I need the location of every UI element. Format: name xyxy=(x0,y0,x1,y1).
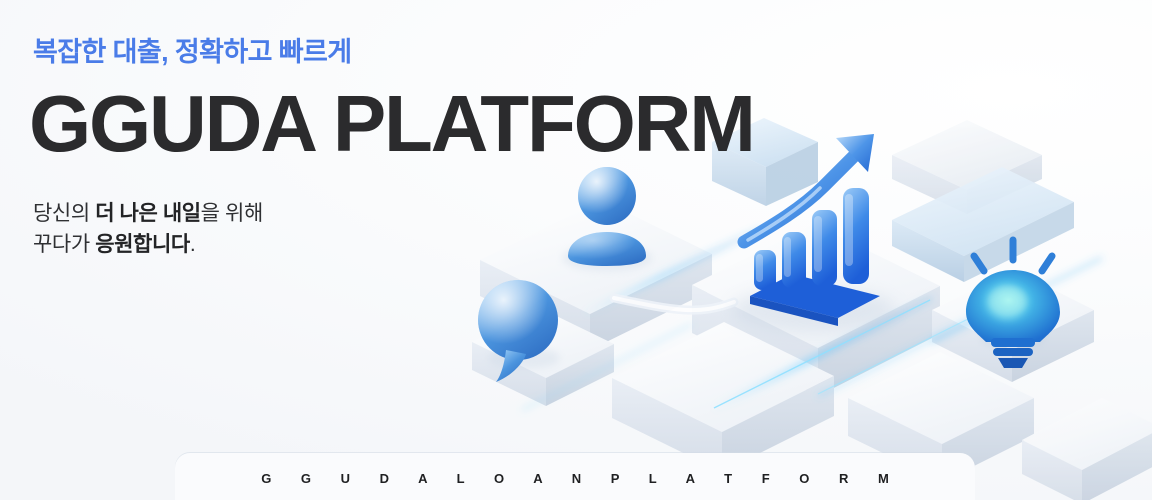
subtitle-emphasis: 응원합니다 xyxy=(95,233,190,256)
hero-copy: 복잡한 대출, 정확하고 빠르게 GGUDA PLATFORM 당신의 더 나은… xyxy=(33,36,593,261)
chart-bar xyxy=(782,232,806,288)
chart-bar xyxy=(754,250,776,290)
bottom-brand-card: G G U D A L O A N P L A T F O R M xyxy=(175,453,975,500)
chart-bar xyxy=(812,210,837,286)
subtitle-text: 꾸다가 xyxy=(33,233,95,256)
hero-banner: 복잡한 대출, 정확하고 빠르게 GGUDA PLATFORM 당신의 더 나은… xyxy=(0,0,1152,500)
page-title: GGUDA PLATFORM xyxy=(29,86,593,162)
subtitle-line-2: 꾸다가 응원합니다. xyxy=(33,233,195,256)
hero-eyebrow: 복잡한 대출, 정확하고 빠르게 xyxy=(33,36,593,68)
bottom-brand-label: G G U D A L O A N P L A T F O R M xyxy=(248,471,902,486)
hero-subtitle: 당신의 더 나은 내일을 위해 꾸다가 응원합니다. xyxy=(33,198,593,260)
subtitle-text: . xyxy=(190,233,195,256)
isometric-tile-bottom-right xyxy=(1022,398,1152,500)
subtitle-text: 을 위해 xyxy=(201,202,263,225)
chart-bar xyxy=(843,188,869,284)
subtitle-line-1: 당신의 더 나은 내일을 위해 xyxy=(33,202,263,225)
subtitle-text: 당신의 xyxy=(33,202,95,225)
subtitle-emphasis: 더 나은 내일 xyxy=(95,202,200,225)
